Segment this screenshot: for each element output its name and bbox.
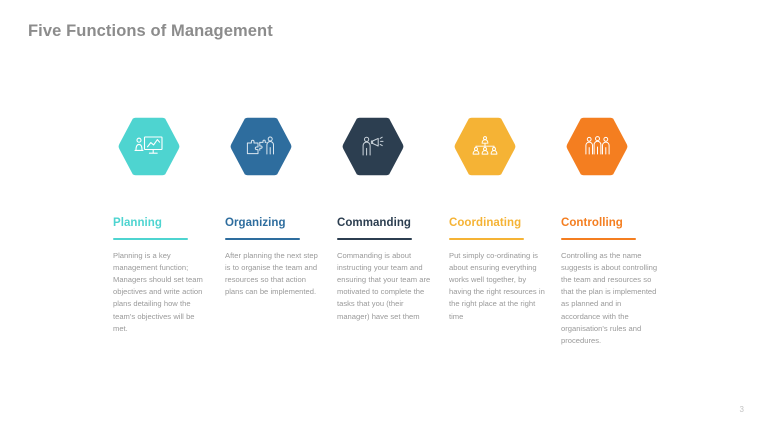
column-body-text: Planning is a key management function; M… [113,250,210,335]
function-column-commanding: Commanding Commanding is about instructi… [337,117,434,347]
column-heading: Coordinating [449,218,546,230]
page-title: Five Functions of Management [28,22,273,41]
column-heading: Commanding [337,218,434,230]
column-heading: Planning [113,218,210,230]
column-heading: Controlling [561,218,658,230]
column-body-text: After planning the next step is to organ… [225,250,322,298]
hexagon-shape [115,117,183,176]
heading-underline [561,238,636,241]
heading-underline [337,238,412,241]
hexagon-badge-coordinating[interactable] [451,117,519,176]
heading-underline [113,238,188,241]
column-body-text: Put simply co-ordinating is about ensuri… [449,250,546,323]
page-number: 3 [740,405,744,414]
function-column-coordinating: Coordinating Put simply co-ordinating is… [449,117,546,347]
hexagon-shape [451,117,519,176]
slide-canvas: Five Functions of Management [0,0,768,432]
hexagon-badge-commanding[interactable] [339,117,407,176]
hexagon-badge-planning[interactable] [115,117,183,176]
hexagon-badge-organizing[interactable] [227,117,295,176]
function-column-planning: Planning Planning is a key management fu… [113,117,210,347]
hexagon-shape [563,117,631,176]
heading-underline [449,238,524,241]
function-column-controlling: Controlling Controlling as the name sugg… [561,117,658,347]
column-body-text: Commanding is about instructing your tea… [337,250,434,323]
functions-columns: Planning Planning is a key management fu… [113,117,673,347]
hexagon-badge-controlling[interactable] [563,117,631,176]
hexagon-shape [339,117,407,176]
column-heading: Organizing [225,218,322,230]
column-body-text: Controlling as the name suggests is abou… [561,250,658,347]
function-column-organizing: Organizing After planning the next step … [225,117,322,347]
hexagon-shape [227,117,295,176]
heading-underline [225,238,300,241]
